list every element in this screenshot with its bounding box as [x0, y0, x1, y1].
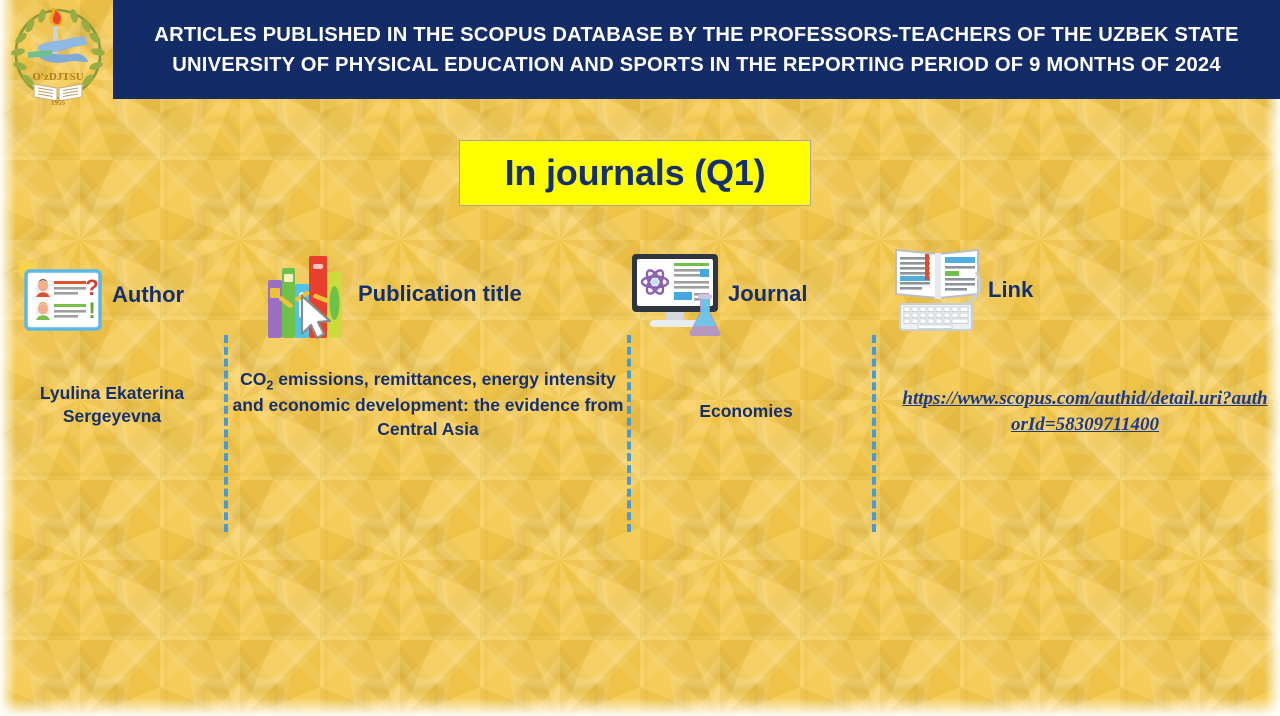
column-label-author: Author: [112, 282, 184, 308]
column-label-journal: Journal: [728, 281, 807, 307]
cell-publication-title: CO2 emissions, remittances, energy inten…: [232, 368, 624, 441]
books-cursor-icon: [258, 248, 358, 340]
svg-text:O'zDJTSU: O'zDJTSU: [32, 71, 83, 83]
svg-text:?: ?: [85, 275, 98, 300]
column-header-publication-title: Publication title: [258, 248, 522, 340]
section-title-label: In journals (Q1): [505, 152, 766, 194]
column-divider-2: [627, 335, 631, 532]
svg-text:1955: 1955: [51, 99, 66, 106]
slide-canvas: ARTICLES PUBLISHED IN THE SCOPUS DATABAS…: [0, 0, 1280, 716]
publication-title-line1-rest: emissions, remittances, energy: [273, 369, 539, 389]
cell-link[interactable]: https://www.scopus.com/authid/detail.uri…: [902, 386, 1268, 437]
section-title-box: In journals (Q1): [459, 140, 811, 206]
column-label-link: Link: [988, 277, 1033, 303]
cell-author: Lyulina Ekaterina Sergeyevna: [8, 382, 216, 429]
column-header-link: Link: [888, 244, 1033, 336]
monitor-atom-flask-icon: [628, 252, 728, 336]
cell-journal: Economies: [636, 400, 856, 423]
column-header-author: ? ! Author: [12, 255, 184, 335]
column-header-journal: Journal: [628, 252, 807, 336]
publication-title-co2-prefix: CO: [240, 369, 266, 389]
author-card-icon: ? !: [12, 255, 112, 335]
svg-text:!: !: [88, 298, 95, 323]
university-logo: O'zDJTSU 1955: [4, 2, 112, 106]
column-divider-3: [872, 335, 876, 532]
column-divider-1: [224, 335, 228, 532]
header-bar: ARTICLES PUBLISHED IN THE SCOPUS DATABAS…: [113, 0, 1280, 99]
column-label-publication-title: Publication title: [358, 281, 522, 307]
page-title: ARTICLES PUBLISHED IN THE SCOPUS DATABAS…: [128, 20, 1266, 78]
open-book-keyboard-icon: [888, 244, 988, 336]
